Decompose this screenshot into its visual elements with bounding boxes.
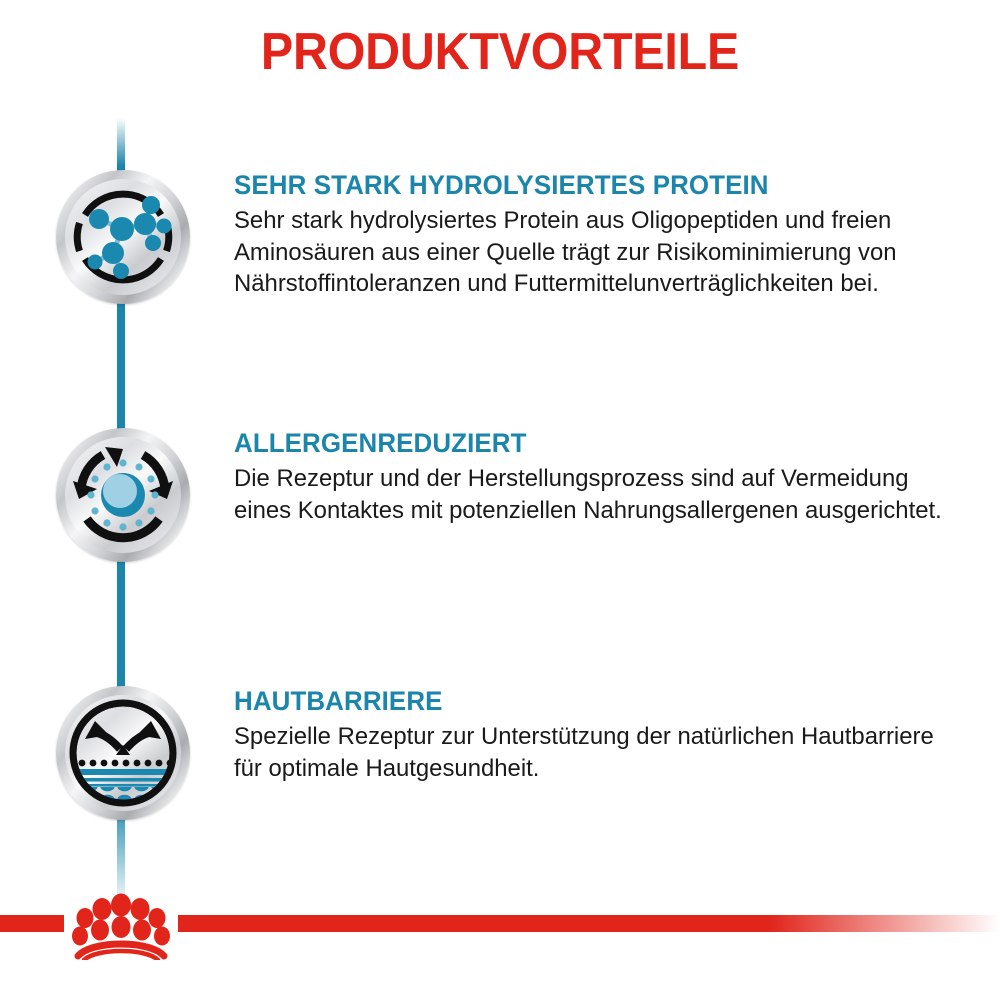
feature-text: SEHR STARK HYDROLYSIERTES PROTEIN Sehr s… (234, 170, 964, 300)
page-title: PRODUKTVORTEILE (35, 22, 965, 82)
feature-heading: SEHR STARK HYDROLYSIERTES PROTEIN (234, 170, 935, 200)
feature-heading: HAUTBARRIERE (234, 686, 935, 716)
feature-text: ALLERGENREDUZIERT Die Rezeptur und der H… (234, 428, 964, 526)
feature-body: Sehr stark hydrolysiertes Protein aus Ol… (234, 205, 946, 300)
product-benefits-page: PRODUKTVORTEILE (0, 0, 1000, 1000)
footer-bar-left (0, 915, 64, 932)
allergen-badge (56, 428, 190, 562)
feature-body: Die Rezeptur und der Herstellungsprozess… (234, 463, 946, 526)
molecule-icon (65, 179, 181, 295)
footer (0, 890, 1000, 1000)
feature-body: Spezielle Rezeptur zur Unterstützung der… (234, 721, 946, 784)
footer-bar-right (178, 915, 1000, 932)
feature-heading: ALLERGENREDUZIERT (234, 428, 935, 458)
feature-text: HAUTBARRIERE Spezielle Rezeptur zur Unte… (234, 686, 964, 784)
molecule-badge (56, 170, 190, 304)
skin-barrier-icon (65, 695, 181, 811)
skin-barrier-badge (56, 686, 190, 820)
royal-canin-crown-logo (66, 890, 176, 960)
allergen-reduced-icon (65, 437, 181, 553)
